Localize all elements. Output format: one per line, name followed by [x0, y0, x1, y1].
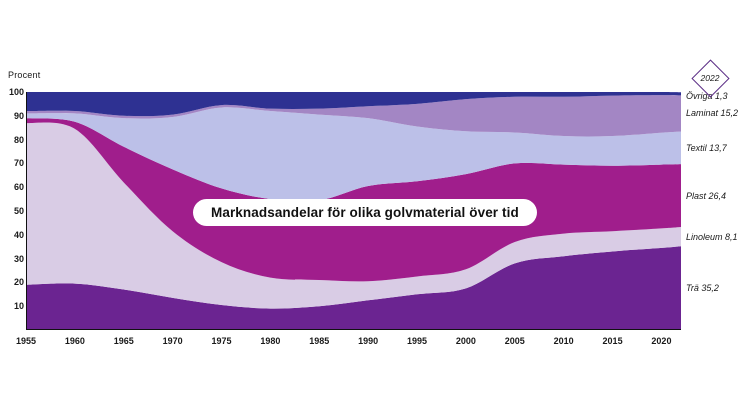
- y-tick-60: 60: [0, 182, 24, 192]
- y-axis-unit-label: Procent: [8, 70, 40, 80]
- series-label-laminat: Laminat 15,2: [686, 108, 738, 118]
- x-tick-1955: 1955: [16, 336, 36, 346]
- x-tick-2010: 2010: [554, 336, 574, 346]
- chart-title: Marknadsandelar för olika golvmaterial ö…: [193, 199, 537, 226]
- y-tick-50: 50: [0, 206, 24, 216]
- series-label-linoleum: Linoleum 8,1: [686, 232, 738, 242]
- x-tick-1970: 1970: [163, 336, 183, 346]
- y-tick-70: 70: [0, 158, 24, 168]
- series-end-labels: Övriga 1,3Laminat 15,2Textil 13,7Plast 2…: [686, 60, 746, 340]
- series-label-tr: Trä 35,2: [686, 283, 719, 293]
- x-axis-tick-labels: 1955196019651970197519801985199019952000…: [0, 336, 746, 354]
- y-tick-10: 10: [0, 301, 24, 311]
- y-axis-tick-labels: 100908070605040302010: [0, 92, 24, 330]
- y-tick-90: 90: [0, 111, 24, 121]
- y-tick-40: 40: [0, 230, 24, 240]
- y-tick-30: 30: [0, 254, 24, 264]
- x-tick-2005: 2005: [505, 336, 525, 346]
- x-tick-1980: 1980: [260, 336, 280, 346]
- series-label-plast: Plast 26,4: [686, 191, 726, 201]
- chart-page: Procent 100908070605040302010 1955196019…: [0, 0, 746, 420]
- y-tick-80: 80: [0, 135, 24, 145]
- year-badge-label: 2022: [692, 60, 728, 96]
- x-tick-1990: 1990: [358, 336, 378, 346]
- x-tick-1965: 1965: [114, 336, 134, 346]
- x-tick-2020: 2020: [651, 336, 671, 346]
- y-tick-20: 20: [0, 277, 24, 287]
- x-tick-2015: 2015: [603, 336, 623, 346]
- x-tick-2000: 2000: [456, 336, 476, 346]
- year-badge: 2022: [692, 60, 728, 96]
- series-label-textil: Textil 13,7: [686, 143, 727, 153]
- x-tick-1995: 1995: [407, 336, 427, 346]
- x-tick-1960: 1960: [65, 336, 85, 346]
- y-tick-100: 100: [0, 87, 24, 97]
- x-tick-1975: 1975: [212, 336, 232, 346]
- x-tick-1985: 1985: [309, 336, 329, 346]
